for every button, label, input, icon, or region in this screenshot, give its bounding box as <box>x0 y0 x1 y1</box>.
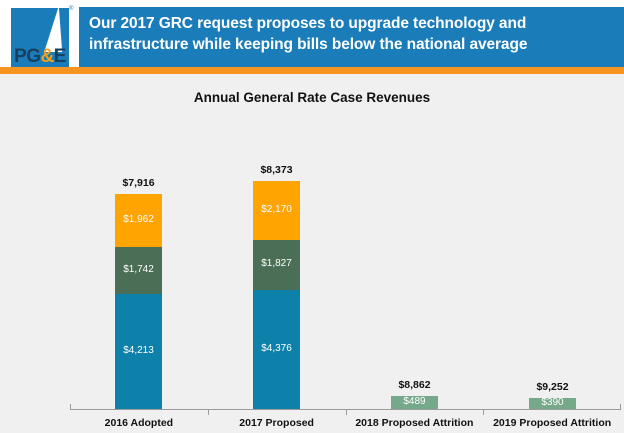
bar-segment[interactable]: $4,213 <box>115 294 162 409</box>
axis-end-cap <box>620 404 621 409</box>
logo-ampersand: & <box>41 46 54 67</box>
bar-segment-label: $1,742 <box>115 264 162 275</box>
bar-segment[interactable]: $2,170 <box>253 181 300 240</box>
bar-segment[interactable]: $4,376 <box>253 290 300 409</box>
logo-text-e: E <box>54 46 66 67</box>
chart-container: Annual General Rate Case Revenues $4,213… <box>0 74 624 433</box>
header-title: Our 2017 GRC request proposes to upgrade… <box>89 13 619 55</box>
x-axis-tick <box>346 410 347 415</box>
bar-segment[interactable]: $1,742 <box>115 247 162 294</box>
bar-segment[interactable]: $1,827 <box>253 240 300 290</box>
bar-segment[interactable]: $1,962 <box>115 194 162 247</box>
x-axis-category-label: 2016 Adopted <box>70 417 208 429</box>
x-axis-tick <box>483 410 484 415</box>
registered-trademark-icon: ® <box>69 6 73 12</box>
bar-segment-label: $489 <box>391 396 438 407</box>
bar-total-label: $8,373 <box>223 164 330 176</box>
x-axis-category-label: 2018 Proposed Attrition <box>346 417 484 429</box>
stacked-bar-plot: $4,213$1,742$1,962$7,9162016 Adopted$4,3… <box>0 74 624 433</box>
bar-segment-label: $1,962 <box>115 214 162 225</box>
bar-segment-label: $2,170 <box>253 204 300 215</box>
bar-segment[interactable]: $489 <box>391 396 438 409</box>
bar-segment-label: $4,376 <box>253 343 300 354</box>
bar-segment-label: $1,827 <box>253 258 300 269</box>
logo-text-pg: PG <box>14 46 40 67</box>
bar-segment-label: $4,213 <box>115 345 162 356</box>
bar-total-label: $7,916 <box>85 177 192 189</box>
bar-segment[interactable]: $390 <box>529 398 576 409</box>
x-axis-tick <box>208 410 209 415</box>
x-axis-category-label: 2017 Proposed <box>208 417 346 429</box>
bar-segment-label: $390 <box>529 397 576 408</box>
axis-end-cap <box>70 404 71 409</box>
page-header: PG&E ® Our 2017 GRC request proposes to … <box>0 0 624 67</box>
header-accent-strip <box>0 67 624 74</box>
x-axis-category-label: 2019 Proposed Attrition <box>483 417 621 429</box>
bar-total-label: $8,862 <box>361 379 468 391</box>
header-banner: Our 2017 GRC request proposes to upgrade… <box>79 7 624 67</box>
bar-total-label: $9,252 <box>499 381 606 393</box>
logo-wordmark: PG&E <box>11 47 69 67</box>
pge-logo: PG&E <box>11 8 69 67</box>
